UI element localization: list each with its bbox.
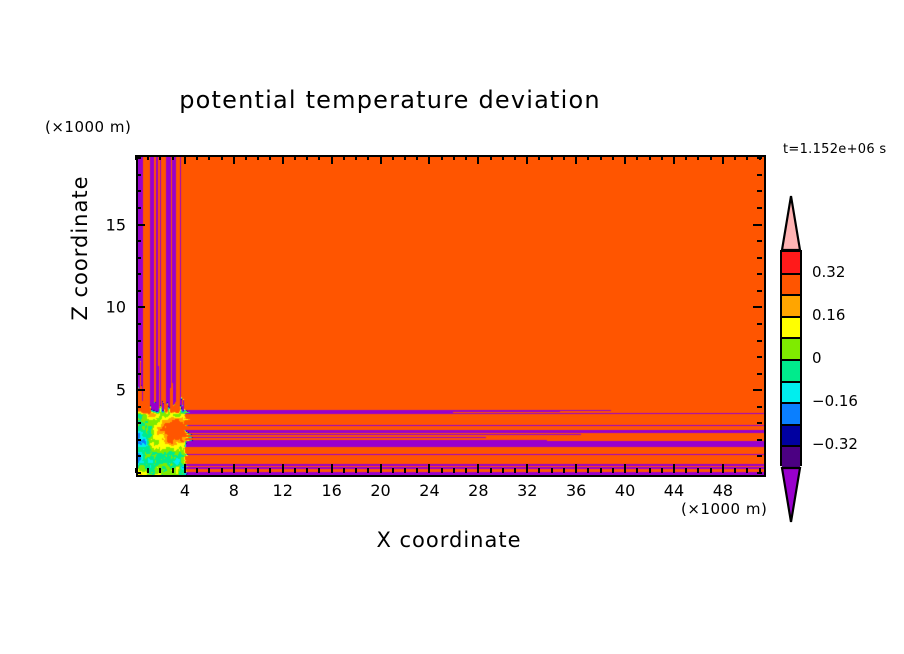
colorbar-band [782,382,800,404]
colorbar-tick-label: 0.16 [812,306,845,324]
contour-field-canvas [138,157,764,475]
colorbar-band [782,425,800,447]
figure-root: potential temperature deviation (×1000 m… [0,0,904,654]
colorbar-band [782,317,800,339]
colorbar-band [782,360,800,382]
colorbar-band [782,403,800,425]
colorbar-band [782,252,800,274]
colorbar-tick-label: −0.16 [812,392,858,410]
x-tick-label: 20 [370,481,390,500]
colorbar-band-divider [782,316,800,318]
colorbar-band-divider [782,445,800,447]
colorbar-over-arrow [780,194,802,252]
x-tick-label: 24 [419,481,439,500]
colorbar-under-arrow [780,466,802,524]
x-tick-label: 48 [713,481,733,500]
colorbar-band-divider [782,381,800,383]
x-axis-unit-label: (×1000 m) [681,500,767,518]
colorbar-band-divider [782,424,800,426]
x-tick-label: 8 [229,481,239,500]
colorbar-band-divider [782,402,800,404]
x-tick-label: 40 [615,481,635,500]
colorbar: 0.320.160−0.16−0.32 [780,194,802,524]
colorbar-bands [780,250,802,466]
contour-plot-area [136,155,766,477]
colorbar-band-divider [782,273,800,275]
x-tick-label: 32 [517,481,537,500]
colorbar-band-divider [782,337,800,339]
x-tick-label: 16 [321,481,341,500]
page-title: potential temperature deviation [0,86,780,114]
colorbar-band-divider [782,294,800,296]
colorbar-tick-label: 0.32 [812,263,845,281]
x-tick-label: 4 [180,481,190,500]
timestamp-annotation: t=1.152e+06 s [783,142,886,157]
y-tick-label: 15 [92,215,126,234]
y-axis-title: Z coordinate [68,128,92,368]
colorbar-band [782,274,800,296]
x-axis-title: X coordinate [136,528,762,552]
colorbar-band-divider [782,359,800,361]
y-tick-label: 5 [92,381,126,400]
colorbar-band [782,295,800,317]
colorbar-tick-label: −0.32 [812,435,858,453]
colorbar-tick-label: 0 [812,349,822,367]
x-tick-label: 36 [566,481,586,500]
x-tick-label: 44 [664,481,684,500]
y-tick-label: 10 [92,298,126,317]
x-tick-label: 12 [273,481,293,500]
colorbar-band [782,338,800,360]
x-tick-label: 28 [468,481,488,500]
colorbar-band [782,446,800,468]
